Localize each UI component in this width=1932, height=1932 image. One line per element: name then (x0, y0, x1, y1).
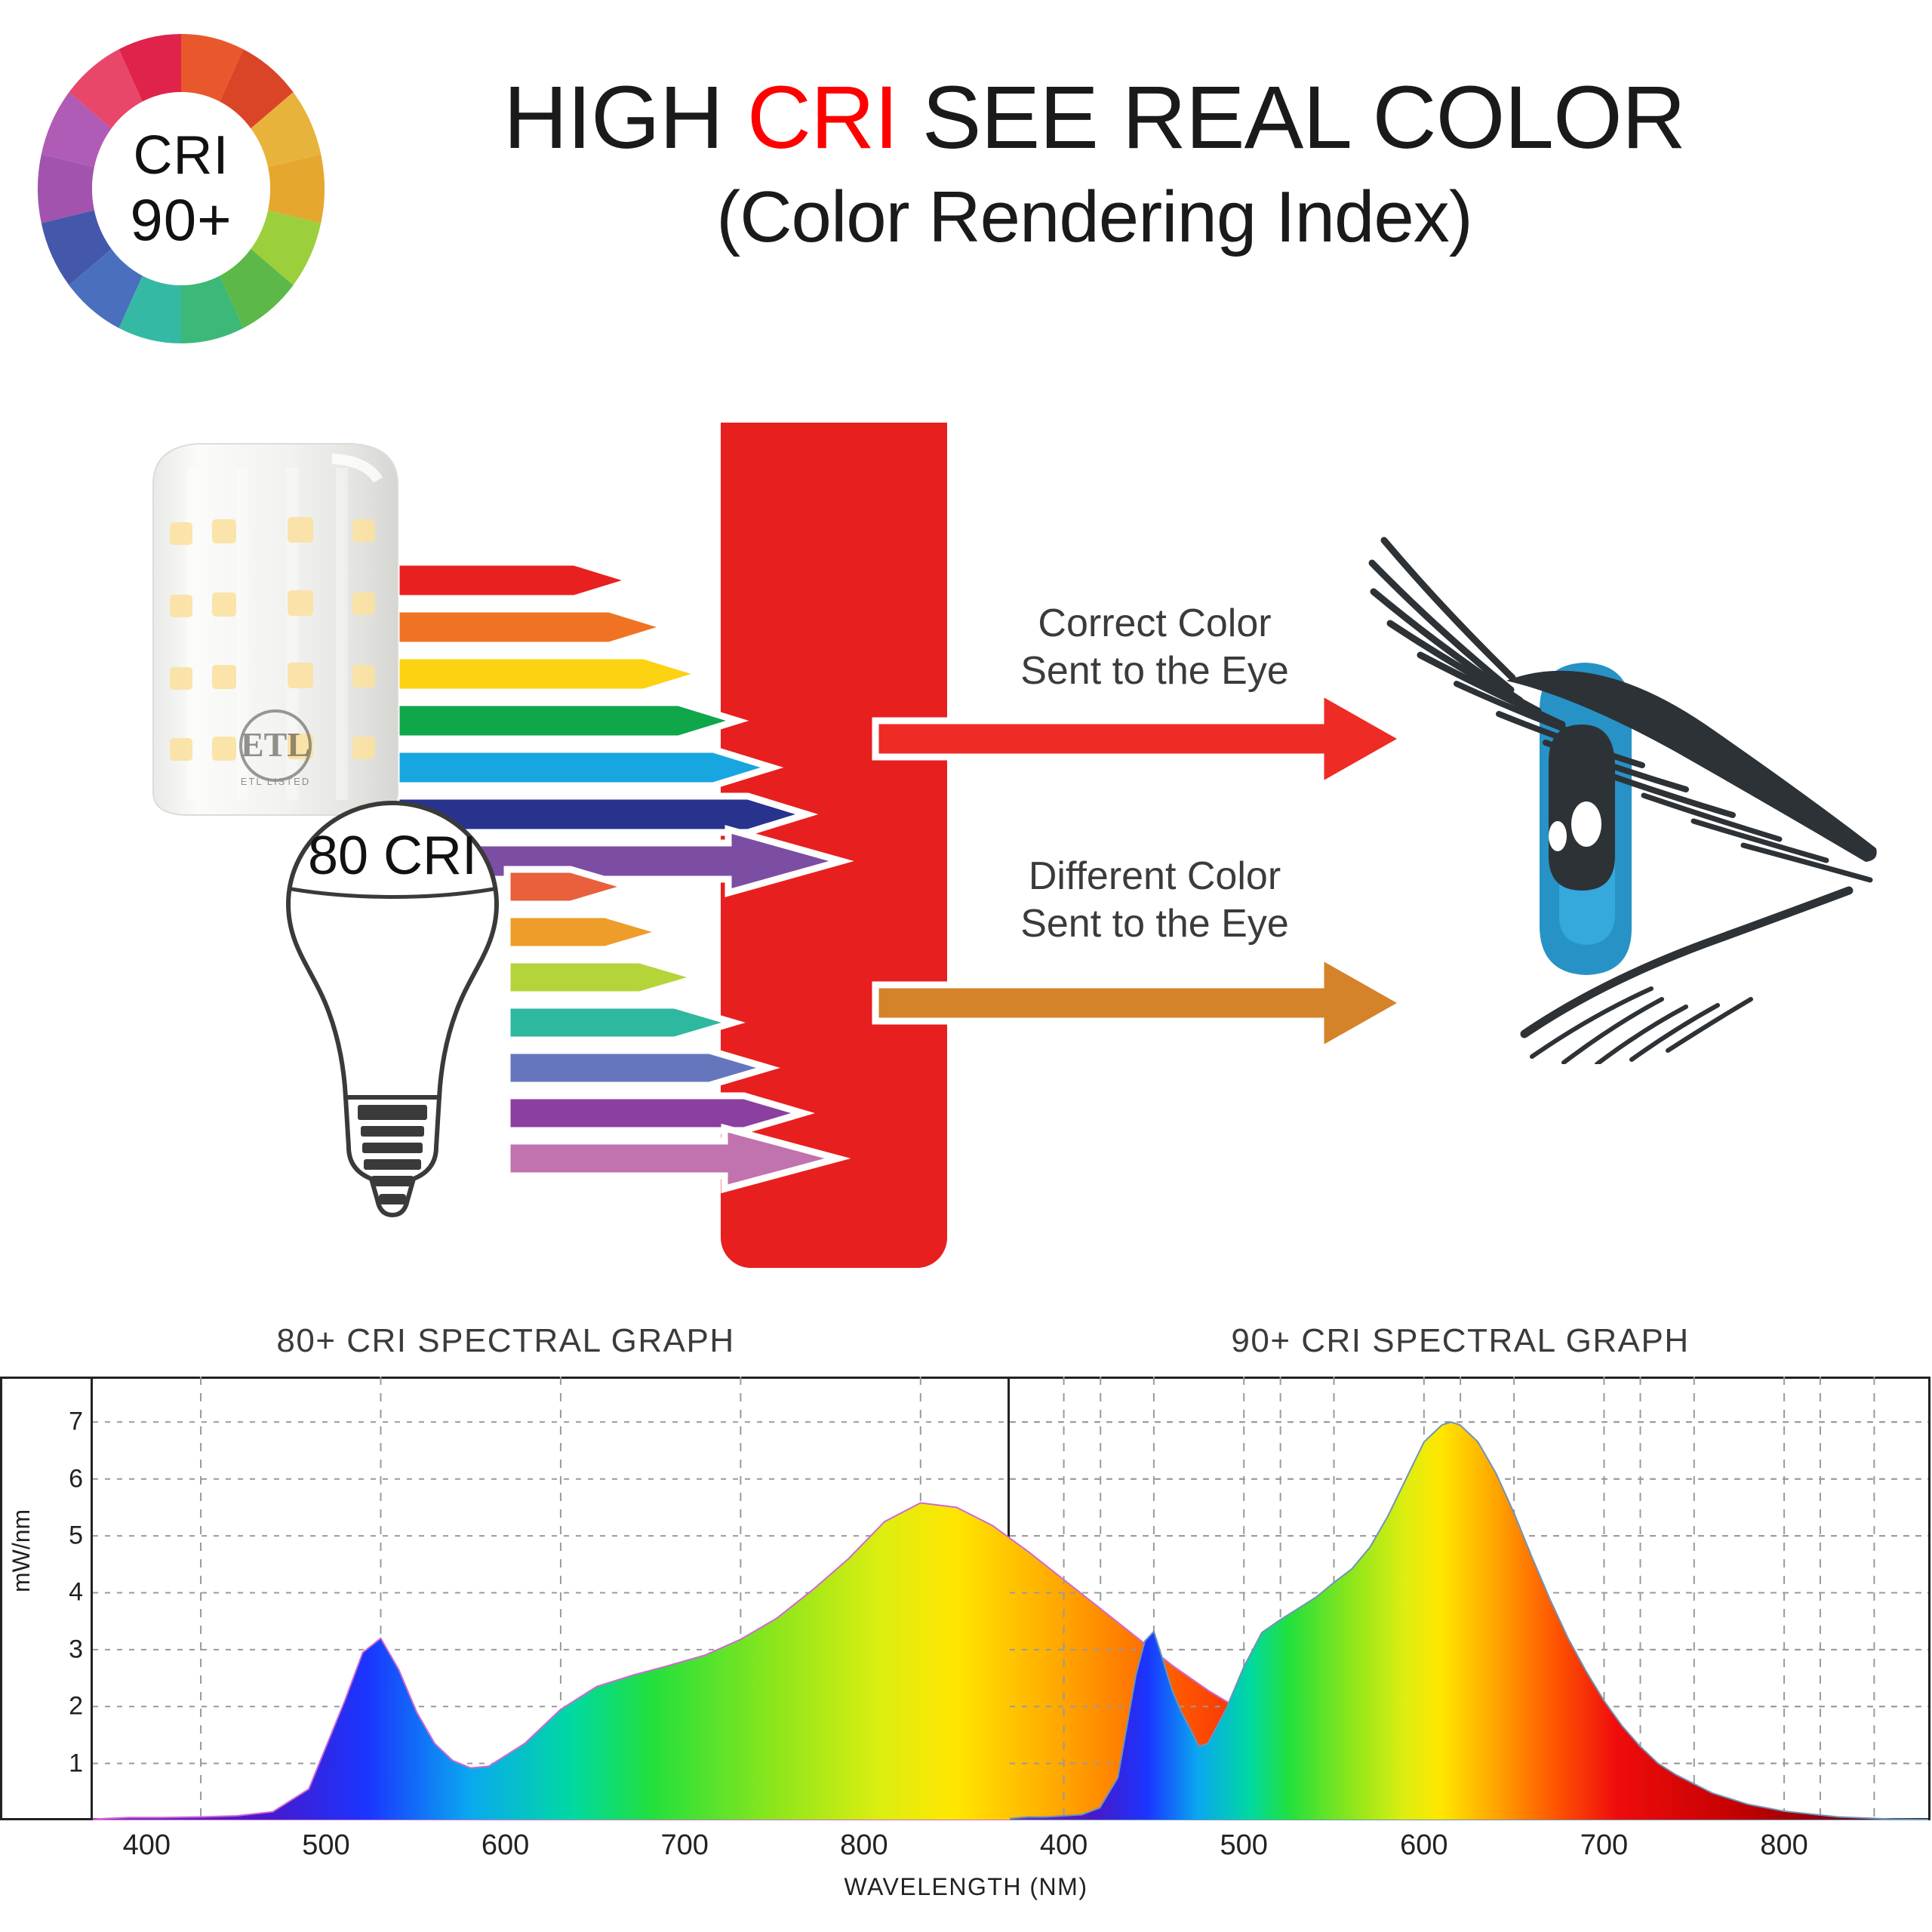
x-tick-label: 800 (1760, 1829, 1807, 1862)
light-beam (507, 1096, 803, 1131)
y-axis-title: mW/nm (8, 1509, 35, 1592)
title-post: SEE REAL COLOR (898, 68, 1685, 168)
caption-top-line-1: Correct Color (989, 600, 1321, 648)
x-tick-label: 400 (1040, 1829, 1088, 1862)
eye-glint-small (1549, 821, 1567, 851)
caption-correct-color: Correct Color Sent to the Eye (989, 600, 1321, 696)
x-axis-title: WAVELENGTH (NM) (0, 1873, 1932, 1901)
arrow-correct-color (875, 692, 1404, 786)
caption-bottom-line-1: Different Color (981, 853, 1328, 900)
title-pre: HIGH (503, 68, 747, 168)
caption-bottom-line-2: Sent to the Eye (981, 900, 1328, 948)
light-beam (507, 960, 699, 995)
page-title: HIGH CRI SEE REAL COLOR (Color Rendering… (445, 72, 1743, 259)
chart-plot-90 (1010, 1377, 1928, 1820)
x-tick-label: 500 (302, 1829, 349, 1862)
light-beam (396, 703, 737, 739)
y-tick-label: 1 (38, 1749, 83, 1778)
cri-badge: CRI 90+ (34, 30, 328, 347)
low-cri-bulb-image: 80 CRI (264, 792, 521, 1245)
x-tick-label: 500 (1220, 1829, 1268, 1862)
title-subtitle: (Color Rendering Index) (445, 176, 1743, 259)
y-tick-label: 2 (38, 1692, 83, 1721)
x-tick-label: 700 (1580, 1829, 1628, 1862)
high-cri-led-bulb-image: ETL ETL LISTED (140, 438, 411, 823)
badge-line-1: CRI (134, 128, 229, 183)
etl-label: ETL LISTED (241, 776, 310, 787)
eye-glint-large (1571, 801, 1601, 847)
light-beam (507, 915, 664, 949)
chart-title-80: 80+ CRI SPECTRAL GRAPH (45, 1322, 966, 1360)
arrow-different-color (875, 956, 1404, 1051)
y-tick-label: 3 (38, 1635, 83, 1664)
light-beam (507, 1051, 768, 1085)
x-tick-label: 400 (123, 1829, 171, 1862)
light-beam (396, 749, 772, 786)
title-highlight: CRI (747, 68, 898, 168)
title-main: HIGH CRI SEE REAL COLOR (445, 72, 1743, 165)
y-tick-label: 5 (38, 1521, 83, 1551)
badge-line-2: 90+ (130, 190, 232, 249)
spectrum-area-90 (1010, 1422, 1928, 1820)
light-beam (396, 656, 703, 692)
y-tick-label: 4 (38, 1578, 83, 1607)
caption-top-line-2: Sent to the Eye (989, 648, 1321, 695)
light-beam (396, 609, 668, 645)
low-cri-label: 80 CRI (308, 826, 477, 886)
x-tick-label: 800 (840, 1829, 888, 1862)
chart-title-90: 90+ CRI SPECTRAL GRAPH (1011, 1322, 1909, 1360)
svg-text:ETL: ETL (241, 725, 310, 764)
badge-text: CRI 90+ (34, 30, 328, 347)
y-tick-label: 6 (38, 1464, 83, 1494)
x-tick-label: 600 (481, 1829, 529, 1862)
caption-different-color: Different Color Sent to the Eye (981, 853, 1328, 949)
eye-illustration (1351, 536, 1909, 1064)
light-beam (507, 1005, 734, 1040)
light-beam (396, 562, 633, 598)
spectral-charts: 80+ CRI SPECTRAL GRAPH 90+ CRI SPECTRAL … (0, 1313, 1932, 1932)
y-tick-label: 7 (38, 1407, 83, 1437)
comparison-diagram: ETL ETL LISTED 80 CRI Correct Color Sent… (0, 423, 1932, 1321)
x-tick-label: 700 (661, 1829, 709, 1862)
x-tick-label: 600 (1400, 1829, 1447, 1862)
